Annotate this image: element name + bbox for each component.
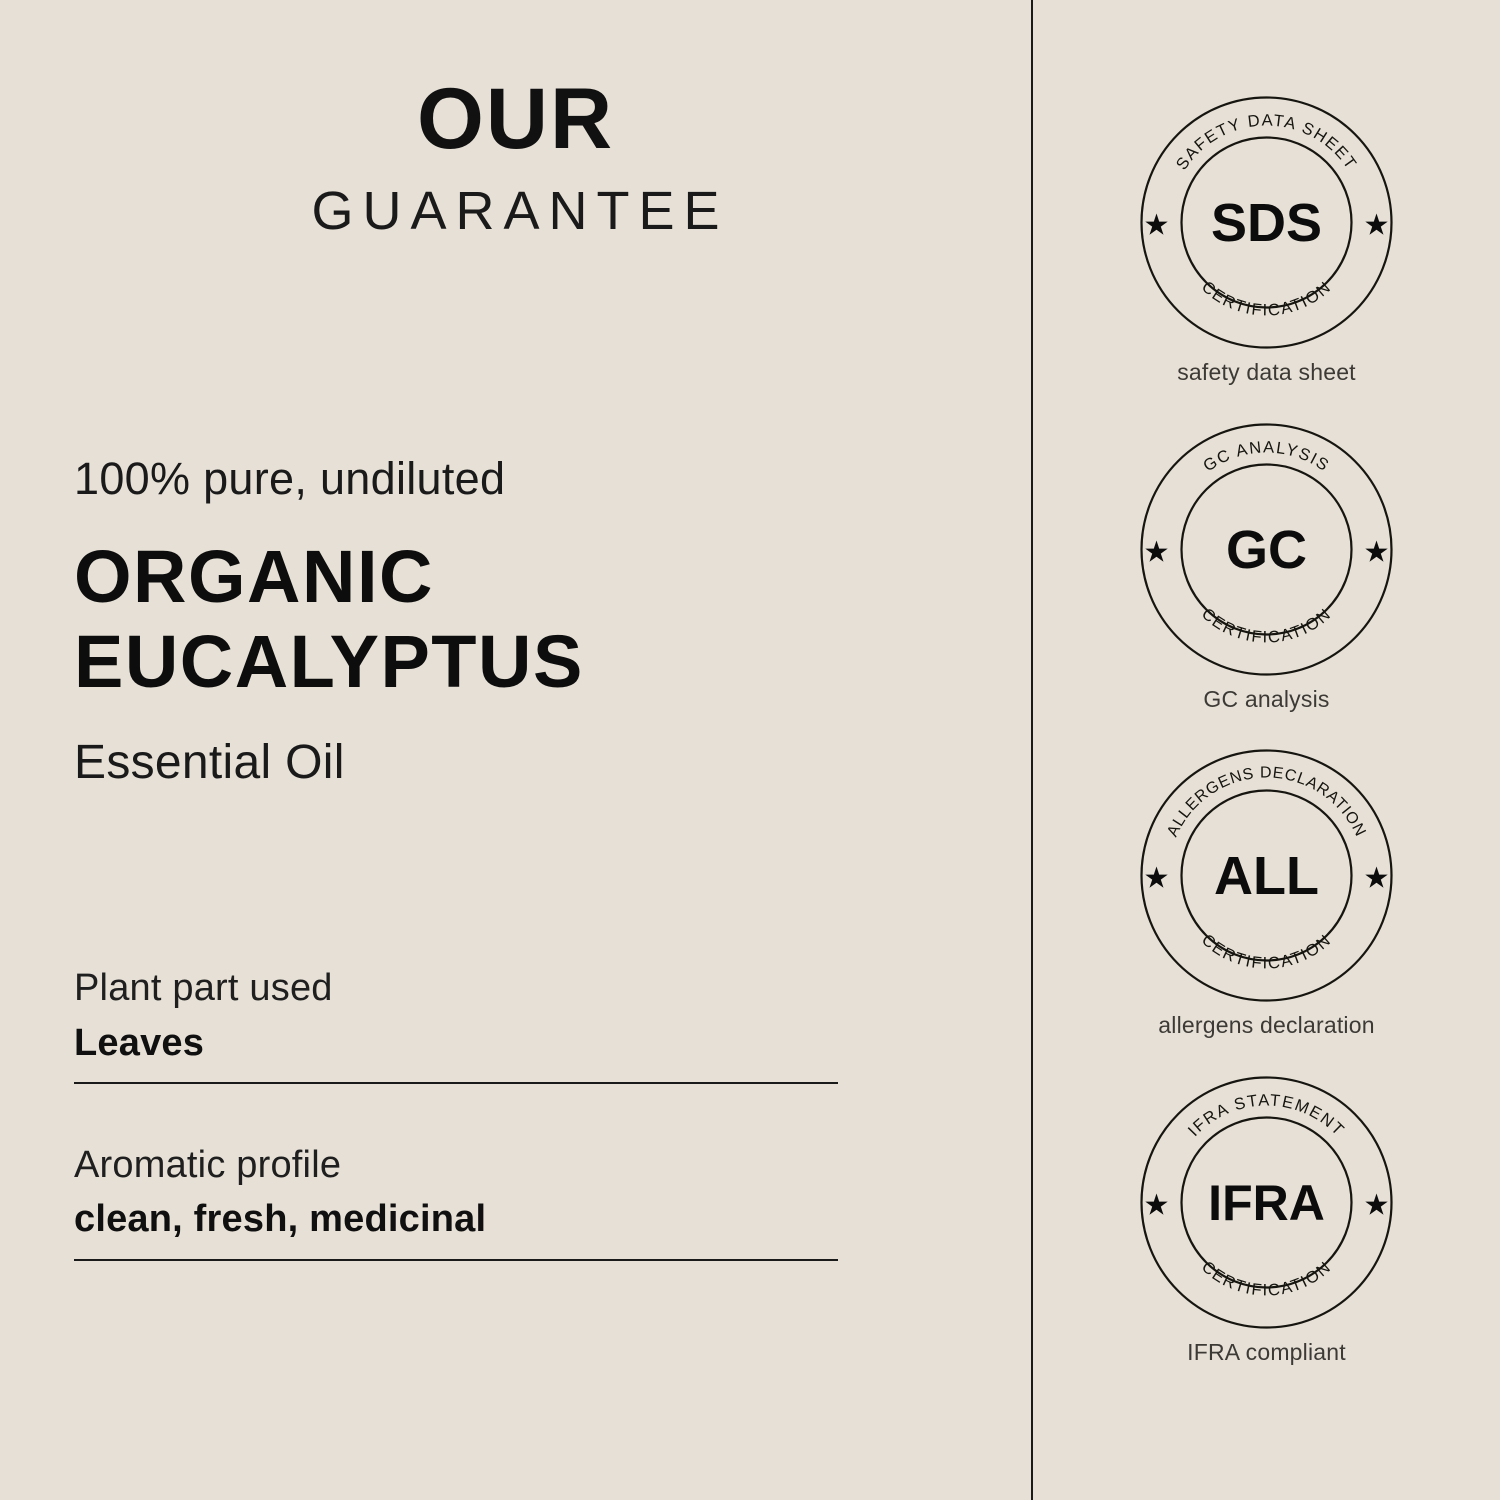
svg-text:CERTIFICATION: CERTIFICATION (1198, 604, 1335, 646)
certification-badge-gc: GC ANALYSIS CERTIFICATION GC GC analysis (1033, 422, 1500, 714)
product-name-line-1: ORGANIC (74, 534, 894, 619)
allergens-seal-icon: ALLERGENS DECLARATION CERTIFICATION ALL (1139, 748, 1394, 1003)
product-name-line-2: EUCALYPTUS (74, 619, 894, 704)
sds-seal-icon: SAFETY DATA SHEET CERTIFICATION SDS (1139, 95, 1394, 350)
sds-bottom-arc-text: CERTIFICATION (1198, 278, 1335, 320)
svg-text:IFRA STATEMENT: IFRA STATEMENT (1185, 1091, 1348, 1140)
star-icon (1145, 867, 1167, 888)
product-heading-block: 100% pure, undiluted ORGANIC EUCALYPTUS … (74, 455, 894, 789)
star-icon (1145, 1193, 1167, 1214)
svg-text:CERTIFICATION: CERTIFICATION (1198, 1258, 1335, 1300)
page-title-primary: OUR (0, 76, 1031, 162)
certification-badge-ifra: IFRA STATEMENT CERTIFICATION IFRA IFRA c… (1033, 1075, 1500, 1367)
gc-bottom-arc-text: CERTIFICATION (1198, 604, 1335, 646)
certification-badge-sds: SAFETY DATA SHEET CERTIFICATION SDS safe… (1033, 95, 1500, 387)
ifra-abbreviation: IFRA (1208, 1175, 1325, 1231)
star-icon (1365, 1193, 1387, 1214)
product-type: Essential Oil (74, 738, 894, 788)
right-column: SAFETY DATA SHEET CERTIFICATION SDS safe… (1033, 0, 1500, 1500)
allergens-bottom-arc-text: CERTIFICATION (1198, 931, 1335, 973)
star-icon (1145, 214, 1167, 235)
svg-text:CERTIFICATION: CERTIFICATION (1198, 931, 1335, 973)
star-icon (1365, 867, 1387, 888)
attribute-row-aromatic-profile: Aromatic profile clean, fresh, medicinal (74, 1142, 838, 1261)
svg-text:SAFETY DATA SHEET: SAFETY DATA SHEET (1173, 111, 1361, 173)
attribute-value: Leaves (74, 1019, 838, 1068)
ifra-seal-icon: IFRA STATEMENT CERTIFICATION IFRA (1139, 1075, 1394, 1330)
attribute-value: clean, fresh, medicinal (74, 1195, 838, 1244)
product-name: ORGANIC EUCALYPTUS (74, 534, 894, 704)
badge-caption: GC analysis (1033, 686, 1500, 714)
product-purity-statement: 100% pure, undiluted (74, 455, 894, 502)
attribute-row-plant-part: Plant part used Leaves (74, 965, 838, 1084)
gc-seal-icon: GC ANALYSIS CERTIFICATION GC (1139, 422, 1394, 677)
svg-text:CERTIFICATION: CERTIFICATION (1198, 278, 1335, 320)
attribute-label: Aromatic profile (74, 1142, 838, 1190)
star-icon (1145, 540, 1167, 561)
ifra-top-arc-text: IFRA STATEMENT (1185, 1091, 1348, 1140)
attribute-list: Plant part used Leaves Aromatic profile … (74, 965, 838, 1261)
star-icon (1365, 540, 1387, 561)
gc-abbreviation: GC (1226, 520, 1307, 580)
star-icon (1365, 214, 1387, 235)
certification-badge-allergens: ALLERGENS DECLARATION CERTIFICATION ALL … (1033, 748, 1500, 1040)
certification-badge-list: SAFETY DATA SHEET CERTIFICATION SDS safe… (1033, 95, 1500, 1401)
attribute-label: Plant part used (74, 965, 838, 1013)
badge-caption: safety data sheet (1033, 359, 1500, 387)
product-guarantee-page: OUR GUARANTEE 100% pure, undiluted ORGAN… (0, 0, 1500, 1500)
page-title-block: OUR GUARANTEE (0, 76, 1031, 238)
page-title-secondary: GUARANTEE (0, 184, 1031, 238)
allergens-abbreviation: ALL (1214, 846, 1319, 906)
gc-top-arc-text: GC ANALYSIS (1200, 438, 1333, 475)
badge-caption: allergens declaration (1033, 1012, 1500, 1040)
svg-text:GC ANALYSIS: GC ANALYSIS (1200, 438, 1333, 475)
badge-caption: IFRA compliant (1033, 1339, 1500, 1367)
sds-abbreviation: SDS (1211, 193, 1322, 253)
left-column: OUR GUARANTEE 100% pure, undiluted ORGAN… (0, 0, 1031, 1500)
ifra-bottom-arc-text: CERTIFICATION (1198, 1258, 1335, 1300)
sds-top-arc-text: SAFETY DATA SHEET (1173, 111, 1361, 173)
